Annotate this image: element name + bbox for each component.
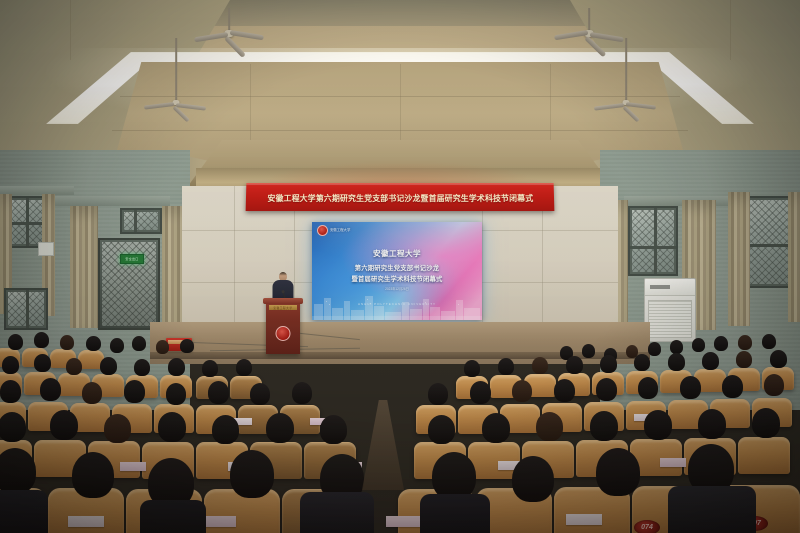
projection-screen: 安徽工程大学 安徽工程大学 第六期研究生党支部书记沙龙 暨首届研究生学术科技节闭… bbox=[312, 222, 482, 320]
audience-head bbox=[762, 334, 776, 349]
center-aisle bbox=[362, 400, 404, 490]
screen-org-logo: 安徽工程大学 bbox=[317, 225, 350, 236]
audience-seating: 074 207 bbox=[0, 330, 800, 533]
audience-head bbox=[2, 356, 19, 374]
audience-head bbox=[554, 379, 575, 402]
audience-head bbox=[40, 378, 61, 401]
screen-org-name: 安徽工程大学 bbox=[330, 228, 350, 232]
audience-head bbox=[512, 456, 554, 502]
audience-head bbox=[670, 340, 683, 354]
seat-paper bbox=[120, 462, 146, 471]
window-right-1 bbox=[628, 206, 678, 276]
audience-head bbox=[266, 413, 294, 443]
audience-head bbox=[104, 414, 131, 443]
curtain-right-4 bbox=[788, 192, 800, 322]
audience-head bbox=[738, 335, 752, 350]
audience-head bbox=[692, 338, 705, 352]
audience-head bbox=[702, 352, 719, 370]
audience-head bbox=[320, 415, 347, 444]
audience-head bbox=[110, 338, 124, 353]
audience-head bbox=[50, 410, 78, 440]
ceiling-seam bbox=[730, 0, 731, 60]
audience-head bbox=[634, 354, 650, 371]
banner-text: 安徽工程大学第六期研究生党支部书记沙龙暨首届研究生学术科技节闭幕式 bbox=[267, 192, 533, 204]
audience-head bbox=[482, 413, 510, 443]
screen-title-line3: 暨首届研究生学术科技节闭幕式 bbox=[312, 274, 482, 283]
audience-head bbox=[532, 357, 548, 374]
exit-sign-icon: 安全出口 bbox=[120, 254, 144, 264]
audience-head bbox=[168, 358, 185, 376]
ceiling-fan-icon bbox=[198, 8, 260, 48]
audience-head bbox=[736, 351, 752, 368]
transom-window-left bbox=[120, 208, 162, 234]
audience-shoulders bbox=[668, 486, 756, 533]
audience-head bbox=[770, 350, 787, 368]
audience-head bbox=[156, 340, 169, 354]
university-seal-icon bbox=[317, 225, 328, 236]
audience-head bbox=[668, 353, 685, 371]
ceiling-seam bbox=[70, 0, 71, 60]
seat bbox=[738, 437, 790, 474]
audience-head bbox=[714, 336, 728, 351]
audience-head bbox=[100, 357, 117, 375]
audience-head bbox=[600, 355, 617, 373]
audience-head bbox=[132, 336, 146, 351]
window-left-lower bbox=[4, 288, 48, 330]
screen-footer: ANHUI POLYTECHNIC UNIVERSITY bbox=[312, 302, 482, 306]
audience-head bbox=[202, 360, 218, 377]
audience-head bbox=[464, 360, 480, 377]
audience-head bbox=[34, 354, 51, 372]
audience-head bbox=[752, 408, 780, 438]
audience-head bbox=[236, 359, 252, 376]
audience-head bbox=[250, 383, 270, 405]
audience-head bbox=[34, 332, 49, 348]
audience-head bbox=[512, 380, 532, 402]
audience-shoulders bbox=[0, 490, 48, 533]
audience-head bbox=[212, 415, 239, 444]
audience-head bbox=[698, 409, 726, 439]
audience-head bbox=[470, 381, 491, 404]
screen-title-line1: 安徽工程大学 bbox=[312, 248, 482, 259]
audience-head bbox=[180, 339, 194, 353]
audience-head bbox=[230, 450, 274, 498]
audience-head bbox=[498, 358, 514, 375]
audience-head bbox=[428, 415, 455, 444]
seat-paper bbox=[660, 458, 686, 467]
audience-head bbox=[0, 448, 36, 494]
audience-head bbox=[72, 452, 114, 498]
wall-switch-box bbox=[38, 242, 54, 256]
audience-head bbox=[292, 382, 312, 404]
audience-head bbox=[648, 342, 661, 356]
exit-sign-label: 安全出口 bbox=[125, 257, 138, 261]
curtain-left-4 bbox=[162, 206, 182, 334]
seat-paper bbox=[386, 516, 422, 527]
audience-head bbox=[0, 412, 26, 442]
audience-head bbox=[680, 376, 701, 399]
auditorium-photo: 安全出口 安徽工程大学 安徽工程 bbox=[0, 0, 800, 533]
audience-head bbox=[124, 380, 145, 403]
audience-head bbox=[8, 334, 23, 350]
seat-paper bbox=[68, 516, 104, 527]
audience-head bbox=[596, 378, 617, 401]
event-banner: 安徽工程大学第六期研究生党支部书记沙龙暨首届研究生学术科技节闭幕式 bbox=[246, 183, 555, 211]
curtain-left-3 bbox=[70, 206, 98, 328]
audience-head bbox=[566, 356, 583, 374]
audience-head bbox=[134, 359, 150, 376]
audience-head bbox=[86, 336, 101, 351]
exit-doorway bbox=[98, 238, 160, 330]
audience-head bbox=[536, 412, 563, 441]
audience-head bbox=[158, 412, 186, 442]
audience-head bbox=[644, 410, 672, 440]
ceiling-fan-icon bbox=[558, 8, 620, 48]
seat-number-badge: 074 bbox=[634, 520, 660, 533]
audience-shoulders bbox=[300, 492, 374, 533]
audience-head bbox=[596, 448, 640, 496]
audience-shoulders bbox=[140, 500, 206, 533]
audience-head bbox=[590, 411, 618, 441]
audience-head bbox=[208, 381, 229, 404]
audience-head bbox=[638, 377, 658, 399]
wall-lintel bbox=[40, 196, 170, 206]
audience-head bbox=[82, 382, 102, 404]
screen-title-block: 安徽工程大学 第六期研究生党支部书记沙龙 暨首届研究生学术科技节闭幕式 bbox=[312, 248, 482, 283]
audience-shoulders bbox=[420, 494, 490, 533]
audience-head bbox=[60, 335, 74, 350]
audience-head bbox=[582, 344, 595, 358]
audience-head bbox=[428, 383, 448, 405]
audience-head bbox=[764, 374, 784, 396]
ceiling-fan-icon bbox=[150, 100, 202, 136]
seat-paper bbox=[566, 514, 602, 525]
ceiling-fan-icon bbox=[600, 100, 652, 136]
curtain-right-3 bbox=[728, 192, 750, 326]
audience-head bbox=[0, 380, 21, 403]
podium-label: 安徽工程大学 bbox=[269, 305, 297, 310]
audience-head bbox=[166, 383, 186, 405]
audience-head bbox=[722, 375, 743, 398]
audience-head bbox=[432, 452, 476, 500]
screen-title-line2: 第六期研究生党支部书记沙龙 bbox=[312, 263, 482, 272]
audience-head bbox=[66, 358, 82, 375]
